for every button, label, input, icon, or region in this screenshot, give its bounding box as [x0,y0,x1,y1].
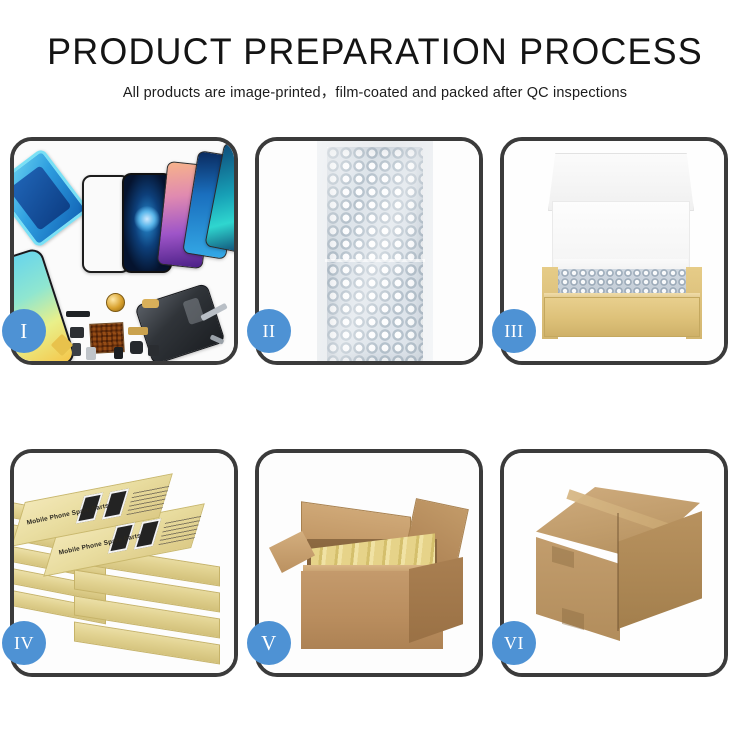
metal-bracket-part [86,347,96,360]
step-badge-vi: VI [492,621,536,665]
bubble-wrap-seam [325,259,425,262]
camera-module-part [70,327,84,338]
page-header: PRODUCT PREPARATION PROCESS All products… [0,0,750,102]
step-badge-iv: IV [2,621,46,665]
step-image-ii [259,141,479,361]
step-panel-iii: III [500,137,728,365]
gold-connector-part [142,299,159,308]
sealed-carton-corner-seam [617,513,619,631]
step-image-vi [504,453,724,673]
inner-box-front-wall [544,297,700,337]
step-badge-v: V [247,621,291,665]
step-image-iv: Mobile Phone Spare Parts Mobile Phone Sp… [14,453,234,673]
step-panel-v: V [255,449,483,677]
bubble-wrap-scene [259,141,479,361]
step-badge-iii: III [492,309,536,353]
stacked-boxes-scene: Mobile Phone Spare Parts Mobile Phone Sp… [14,453,234,673]
open-carton-scene [259,453,479,673]
step-panel-iv: Mobile Phone Spare Parts Mobile Phone Sp… [10,449,238,677]
phone-parts-scene [14,141,234,361]
step-badge-i: I [2,309,46,353]
blue-adhesive-frame [14,148,89,249]
product-preparation-process-page: PRODUCT PREPARATION PROCESS All products… [0,0,750,750]
page-subtitle: All products are image-printed，film-coat… [0,81,750,102]
vibrator-motor-part [106,293,125,312]
carton-side-wall [409,557,463,643]
page-title: PRODUCT PREPARATION PROCESS [11,33,739,72]
process-steps-grid: I II [10,137,740,677]
sim-tray-part [72,343,81,356]
speaker-part [130,341,143,354]
button-part [114,347,123,359]
ic-chip-part [148,345,159,356]
bubble-wrap-sheen [327,147,423,361]
step-image-i [14,141,234,361]
open-inner-box-scene [504,141,724,361]
step-panel-i: I [10,137,238,365]
gold-flex-part [128,327,148,335]
step-panel-ii: II [255,137,483,365]
step-image-v [259,453,479,673]
step-panel-vi: VI [500,449,728,677]
sealed-carton-scene [504,453,724,673]
flex-cable-part [66,311,90,317]
step-image-iii [504,141,724,361]
step-badge-ii: II [247,309,291,353]
